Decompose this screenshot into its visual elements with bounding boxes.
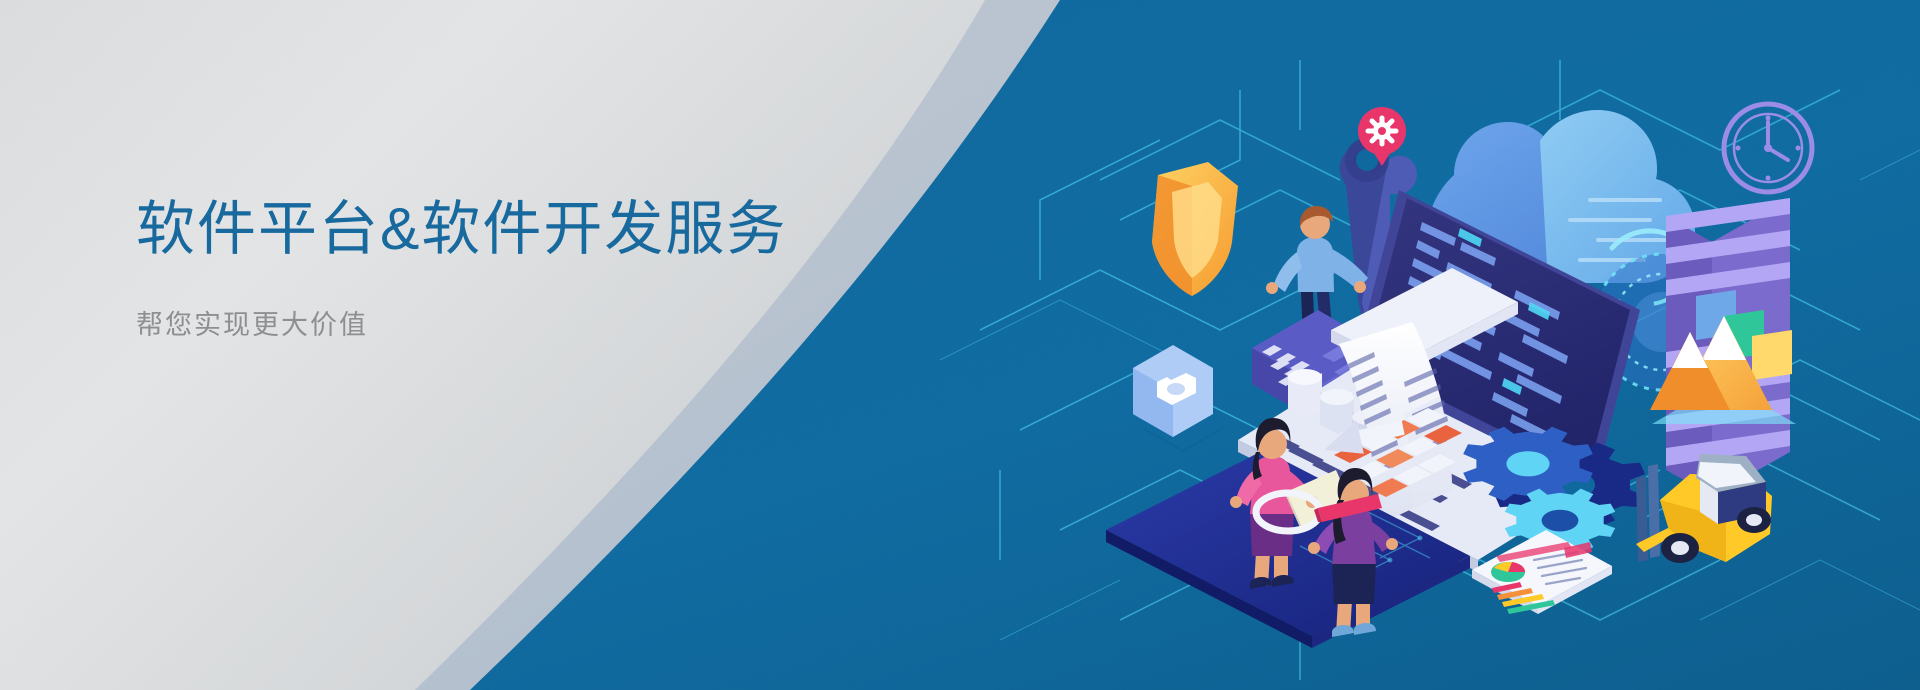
hero-banner: 软件平台&软件开发服务 帮您实现更大价值	[0, 0, 1920, 690]
camera-icon-tile	[1133, 345, 1223, 451]
page-title: 软件平台&软件开发服务	[136, 196, 956, 262]
hero-illustration	[0, 0, 1920, 690]
banner-copy: 软件平台&软件开发服务 帮您实现更大价值	[136, 196, 956, 343]
pie-chart-icon	[1491, 562, 1525, 582]
forklift-icon	[1636, 454, 1772, 563]
card-yellow	[1752, 330, 1792, 380]
clock-icon	[1724, 104, 1812, 192]
shield-icon	[1152, 162, 1238, 296]
page-subtitle: 帮您实现更大价值	[136, 262, 956, 343]
